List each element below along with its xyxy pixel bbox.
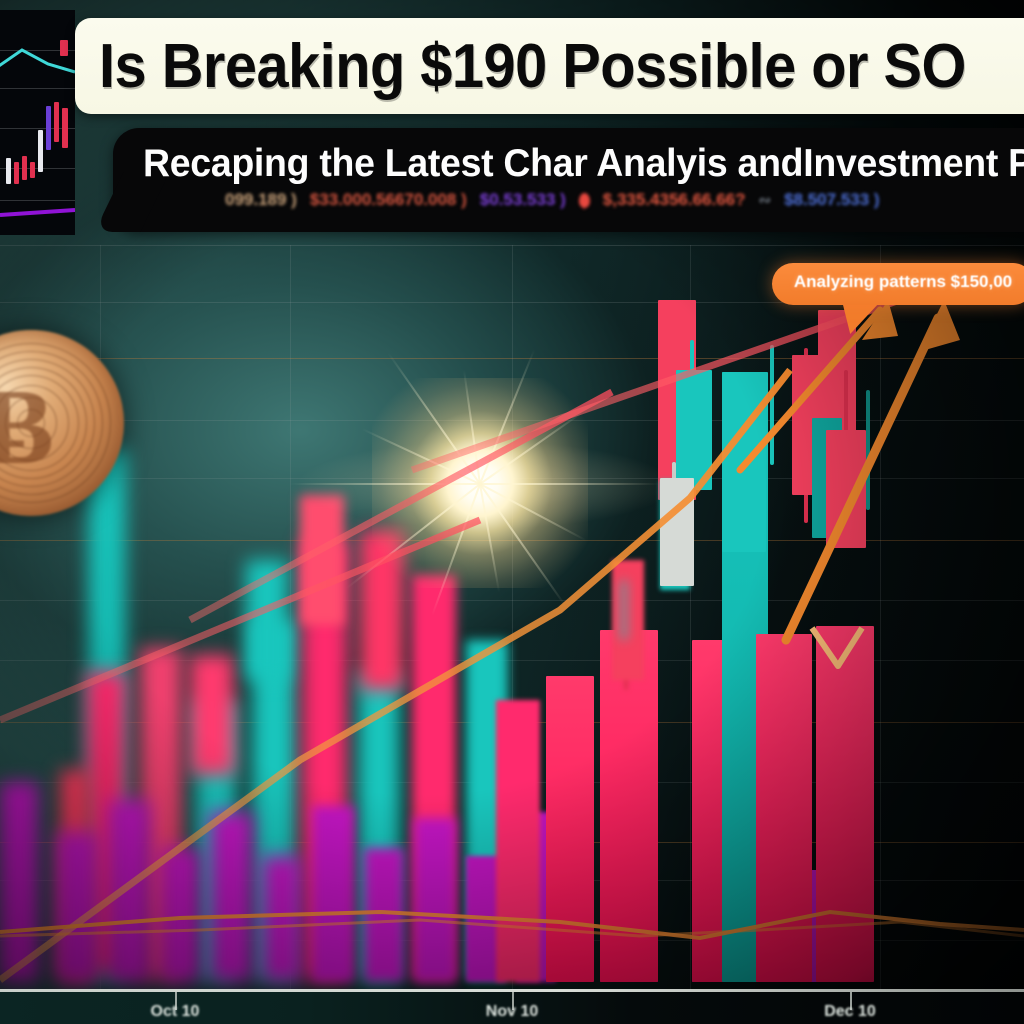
metadata-item: $33.000.56670.008 ) xyxy=(310,190,467,210)
analysis-callout-badge[interactable]: Analyzing patterns $150,00 xyxy=(772,263,1024,305)
location-pin-icon xyxy=(579,193,590,208)
mini-chart-thumbnail[interactable] xyxy=(0,10,75,235)
metadata-item: $8.507.533 ) xyxy=(784,190,879,210)
headline-banner: Is Breaking $190 Possible or SO xyxy=(75,18,1024,114)
axis-tick-label: Dec 10 xyxy=(824,1003,876,1021)
metadata-item: $0.53.533 ) xyxy=(480,190,566,210)
axis-tick-label: Nov 10 xyxy=(486,1003,538,1021)
metadata-item: $,335.4356.66.66? xyxy=(603,190,746,210)
callout-label: Analyzing patterns $150,00 xyxy=(772,272,1024,292)
bitcoin-symbol: Ƀ xyxy=(0,374,54,482)
metadata-row: 099.189 ) $33.000.56670.008 ) $0.53.533 … xyxy=(225,190,880,210)
wave-icon: ∾ xyxy=(759,191,772,209)
screenshot-root: Ƀ Oct 10 Nov 10 Dec 10 Analyzing pattern… xyxy=(0,0,1024,1024)
metadata-item: 099.189 ) xyxy=(225,190,297,210)
axis-tick-label: Oct 10 xyxy=(151,1003,200,1021)
callout-tail xyxy=(838,300,882,334)
page-title: Is Breaking $190 Possible or SO xyxy=(99,31,966,102)
page-subtitle: Recaping the Latest Char Analyis andInve… xyxy=(143,142,1024,186)
subtitle-banner: Recaping the Latest Char Analyis andInve… xyxy=(113,128,1024,232)
